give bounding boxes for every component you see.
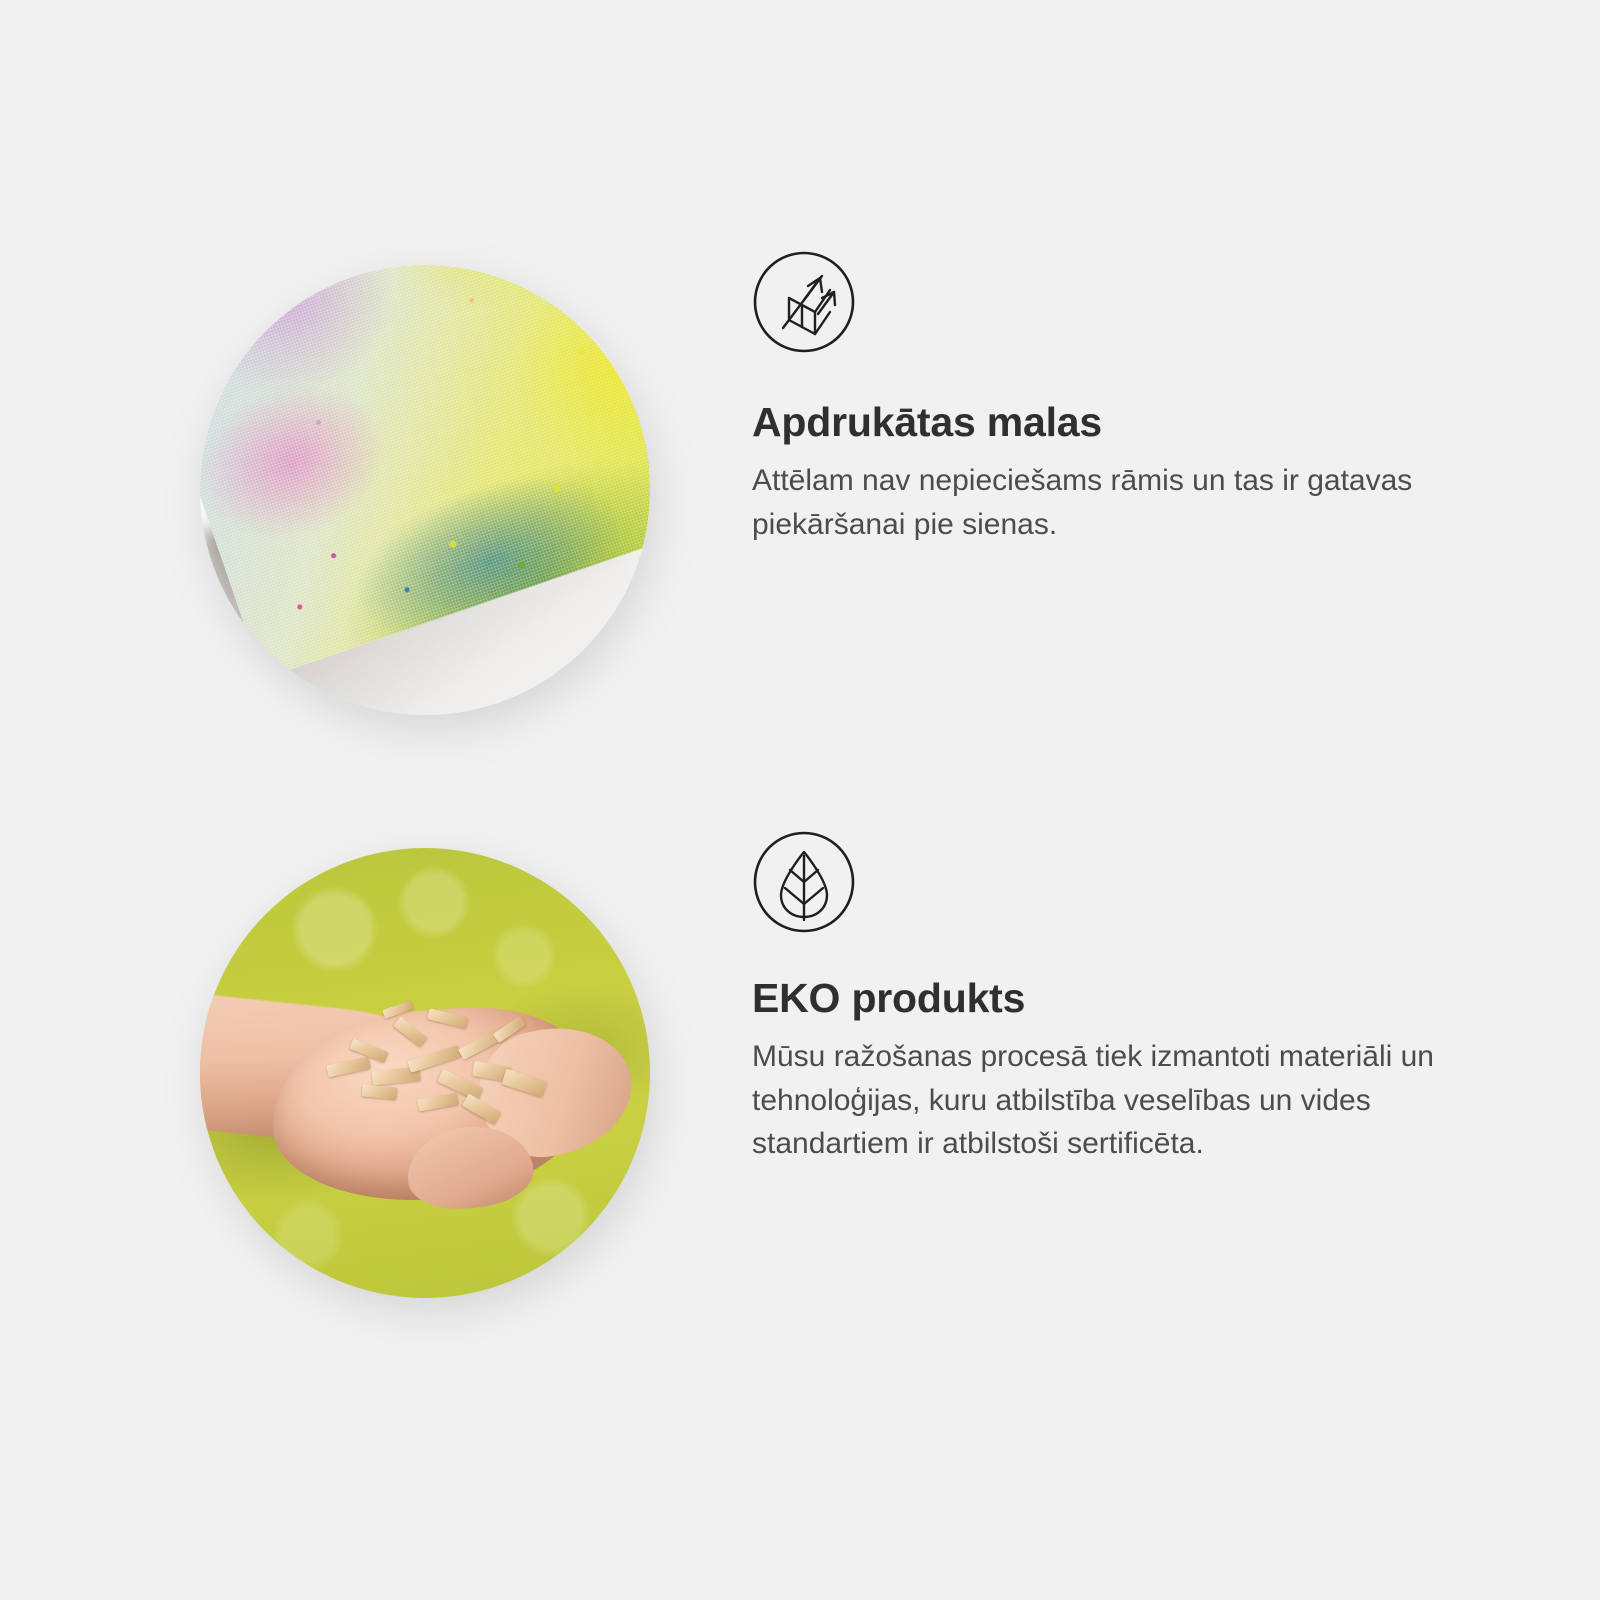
printed-edges-text-column: Apdrukātas malas Attēlam nav nepieciešam… <box>752 250 1452 546</box>
feature-description: Attēlam nav nepieciešams rāmis un tas ir… <box>752 459 1444 546</box>
feature-highlights-page: Apdrukātas malas Attēlam nav nepieciešam… <box>0 0 1600 1600</box>
feature-title: EKO produkts <box>752 976 1452 1021</box>
eco-photo-backdrop <box>200 848 650 1298</box>
feature-eco-product: EKO produkts Mūsu ražošanas procesā tiek… <box>0 830 1600 1350</box>
printed-edge-canvas-icon <box>752 250 856 354</box>
leaf-icon <box>752 830 856 934</box>
hand-holding-wood-chips-photo <box>200 848 650 1298</box>
feature-printed-edges: Apdrukātas malas Attēlam nav nepieciešam… <box>0 250 1600 750</box>
feature-title: Apdrukātas malas <box>752 400 1452 445</box>
canvas-photo-backdrop <box>200 265 650 715</box>
canvas-print-corner-media <box>200 265 650 715</box>
canvas-print-corner-photo <box>200 265 650 715</box>
feature-description: Mūsu ražošanas procesā tiek izmantoti ma… <box>752 1035 1444 1166</box>
wood-chips-pile <box>317 997 569 1132</box>
eco-product-media <box>200 848 650 1298</box>
eco-product-text-column: EKO produkts Mūsu ražošanas procesā tiek… <box>752 830 1452 1166</box>
